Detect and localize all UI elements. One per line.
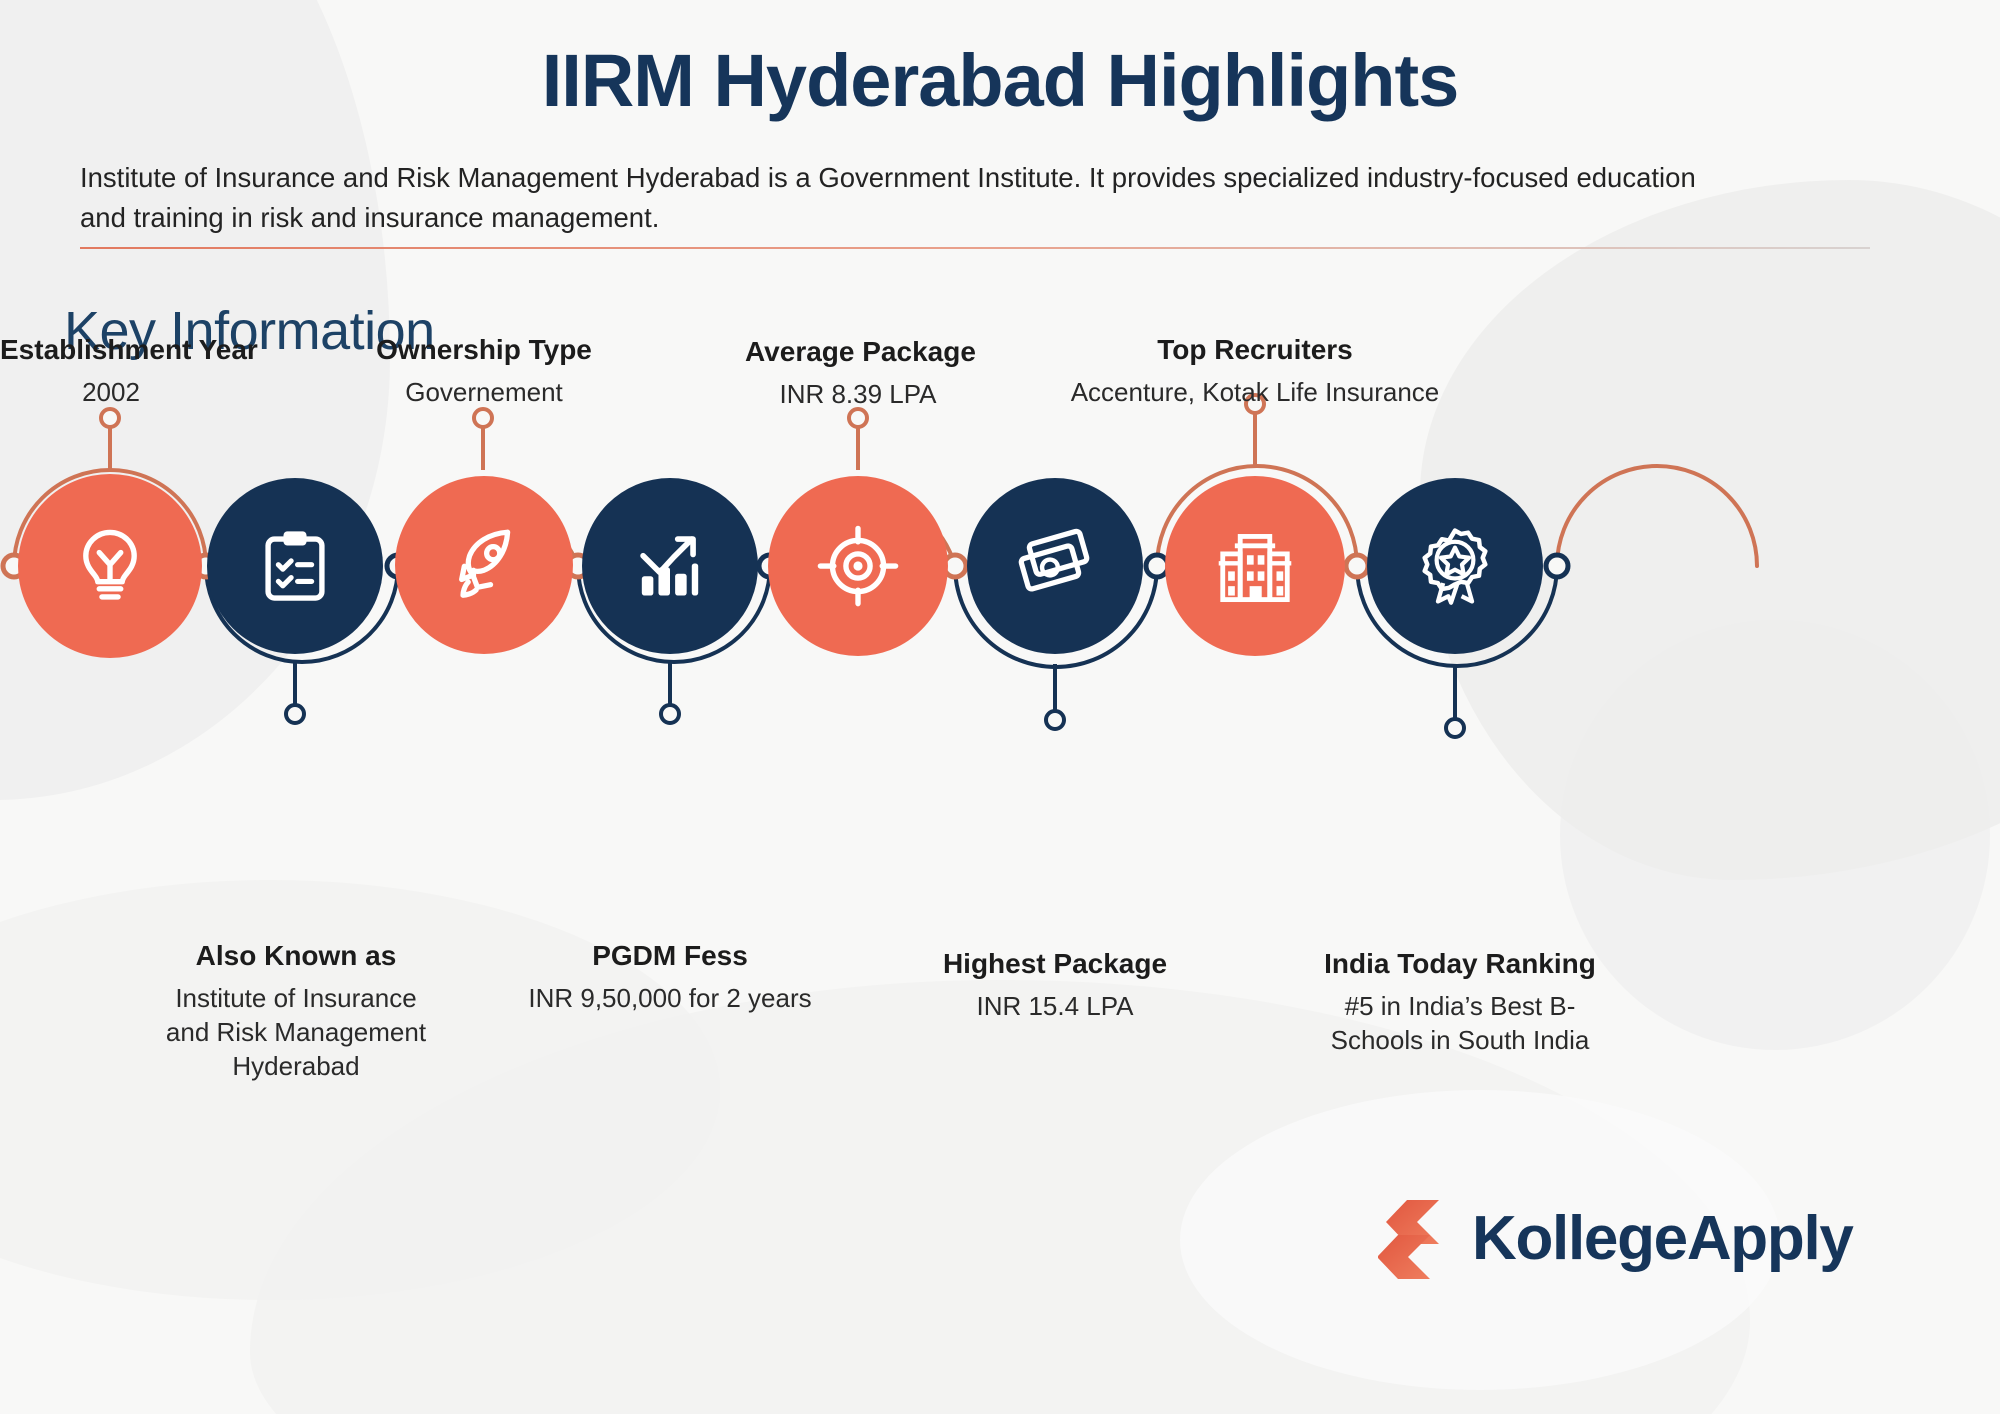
label-key: Also Known as [160, 938, 432, 973]
label-key: PGDM Fess [515, 938, 825, 973]
building-icon [1212, 523, 1298, 609]
money-notes-icon [1013, 524, 1097, 608]
award-badge-icon [1413, 524, 1497, 608]
label-highest-package: Highest Package INR 15.4 LPA [925, 946, 1185, 1024]
label-key: India Today Ranking [1300, 946, 1620, 981]
growth-chart-icon [629, 525, 711, 607]
label-top-recruiters: Top Recruiters Accenture, Kotak Life Ins… [1045, 332, 1465, 410]
label-pgdm-fees: PGDM Fess INR 9,50,000 for 2 years [515, 938, 825, 1016]
label-key: Establishment Year [0, 332, 222, 367]
label-value: #5 in India’s Best B-Schools in South In… [1300, 990, 1620, 1058]
node-ownership-type[interactable] [395, 476, 573, 654]
clipboard-checklist-icon [254, 525, 336, 607]
brand-name: KollegeApply [1472, 1208, 1853, 1270]
label-key: Highest Package [925, 946, 1185, 981]
label-value: Institute of Insurance and Risk Manageme… [160, 982, 432, 1083]
label-value: Accenture, Kotak Life Insurance [1045, 376, 1465, 410]
label-india-today-ranking: India Today Ranking #5 in India’s Best B… [1300, 946, 1620, 1058]
label-average-package: Average Package INR 8.39 LPA [745, 334, 971, 412]
label-key: Average Package [745, 334, 971, 369]
node-also-known-as[interactable] [207, 478, 383, 654]
infographic-canvas: IIRM Hyderabad Highlights Institute of I… [0, 0, 2000, 1414]
brand-logo[interactable]: KollegeApply [1378, 1196, 1853, 1282]
target-icon [815, 523, 901, 609]
node-highest-package[interactable] [967, 478, 1143, 654]
label-value: INR 9,50,000 for 2 years [515, 982, 825, 1016]
label-key: Top Recruiters [1045, 332, 1465, 367]
double-chevron-logo-icon [1378, 1196, 1450, 1282]
label-value: INR 8.39 LPA [745, 378, 971, 412]
node-top-recruiters[interactable] [1165, 476, 1345, 656]
label-key: Ownership Type [373, 332, 595, 367]
label-establishment-year: Establishment Year 2002 [0, 332, 222, 410]
label-value: Governement [373, 376, 595, 410]
label-value: 2002 [0, 376, 222, 410]
node-establishment-year[interactable] [18, 474, 202, 658]
label-value: INR 15.4 LPA [925, 990, 1185, 1024]
node-india-today-ranking[interactable] [1367, 478, 1543, 654]
label-also-known-as: Also Known as Institute of Insurance and… [160, 938, 432, 1083]
label-ownership-type: Ownership Type Governement [373, 332, 595, 410]
node-average-package[interactable] [768, 476, 948, 656]
rocket-icon [442, 523, 526, 607]
lightbulb-icon [67, 523, 153, 609]
node-pgdm-fees[interactable] [582, 478, 758, 654]
